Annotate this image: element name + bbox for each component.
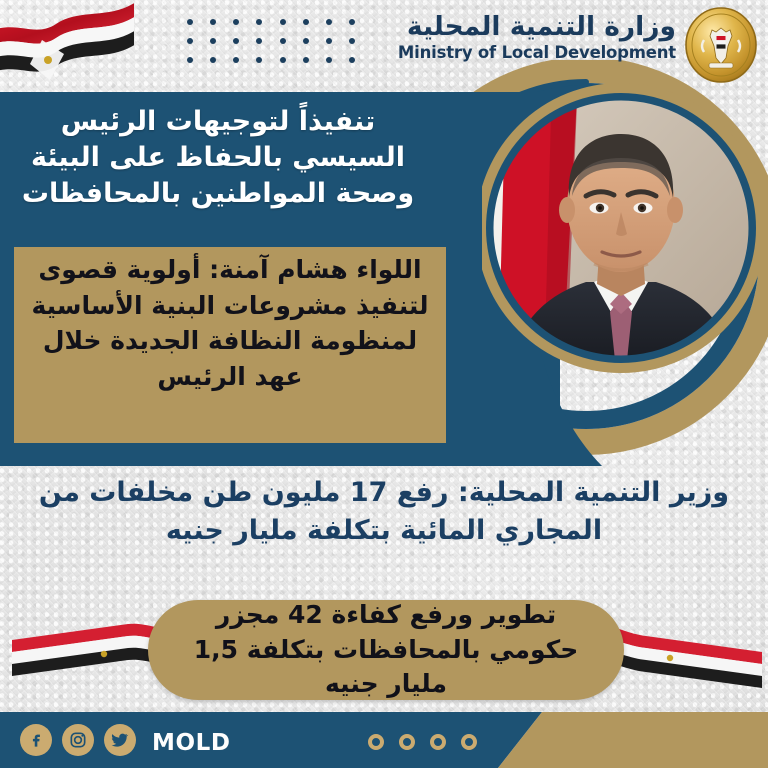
dot-grid-decoration-icon (178, 12, 364, 70)
minister-statement-text: وزير التنمية المحلية: رفع 17 مليون طن مخ… (34, 474, 734, 551)
instagram-icon[interactable] (62, 724, 94, 756)
ministry-name-arabic: وزارة التنمية المحلية (398, 12, 676, 42)
minister-quote-text: اللواء هشام آمنة: أولوية قصوى لتنفيذ مشر… (18, 252, 442, 394)
brand-label: MOLD (152, 730, 231, 756)
page-headline: تنفيذاً لتوجيهات الرئيس السيسي بالحفاظ ع… (8, 104, 428, 213)
ring-icon (430, 734, 446, 750)
ring-icon (368, 734, 384, 750)
ring-icon (461, 734, 477, 750)
ministry-name-english: Ministry of Local Development (398, 43, 676, 63)
footer-bar: MOLD (0, 712, 768, 768)
egypt-flag-ribbon-icon (0, 0, 134, 102)
infographic-poster: وزارة التنمية المحلية Ministry of Local … (0, 0, 768, 768)
ministry-titles: وزارة التنمية المحلية Ministry of Local … (398, 12, 676, 62)
egypt-eagle-emblem-icon (682, 6, 760, 84)
footer-ring-decoration (368, 734, 477, 750)
twitter-icon[interactable] (104, 724, 136, 756)
highlight-pill-text: تطوير ورفع كفاءة 42 مجزر حكومي بالمحافظا… (148, 598, 624, 702)
highlight-pill: تطوير ورفع كفاءة 42 مجزر حكومي بالمحافظا… (148, 600, 624, 700)
president-sisi-portrait (482, 78, 760, 378)
facebook-icon[interactable] (20, 724, 52, 756)
ring-icon (399, 734, 415, 750)
